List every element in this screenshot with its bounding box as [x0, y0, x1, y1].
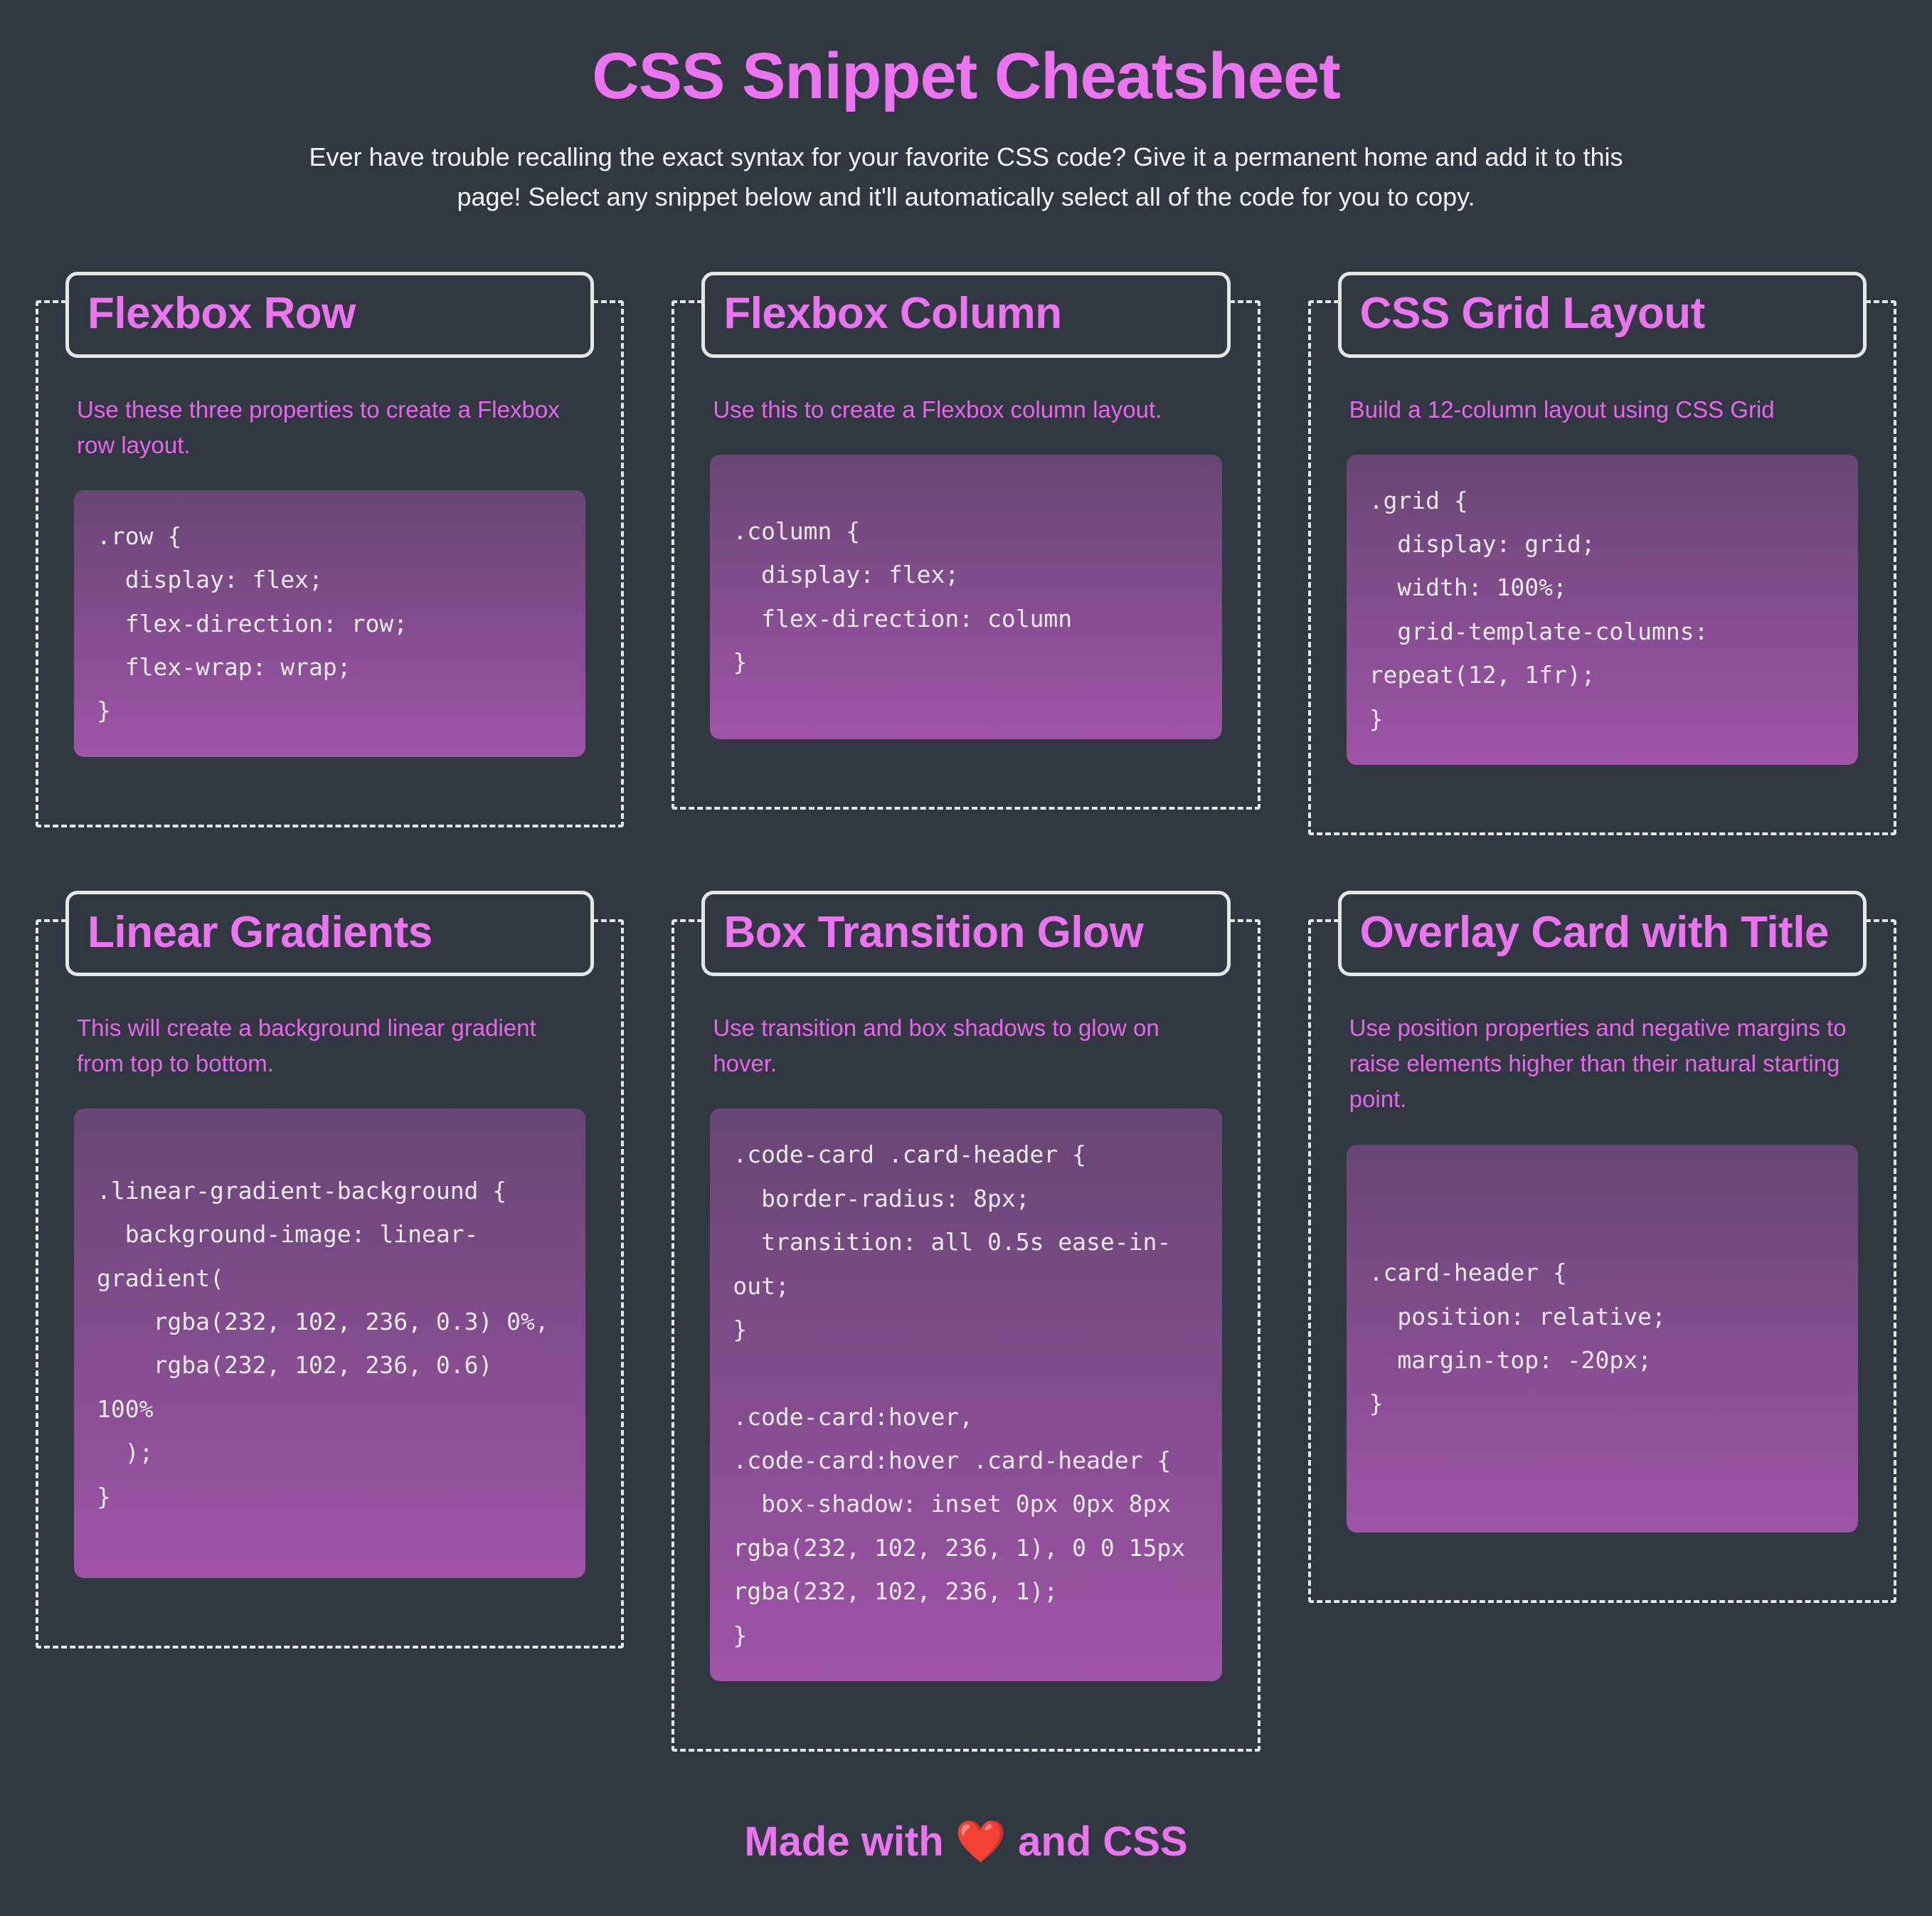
- snippet-card-flexbox-column[interactable]: Flexbox Column Use this to create a Flex…: [672, 300, 1260, 809]
- card-description: Use these three properties to create a F…: [74, 392, 585, 463]
- snippet-card-linear-gradients[interactable]: Linear Gradients This will create a back…: [36, 919, 624, 1648]
- card-title: Flexbox Column: [723, 287, 1208, 339]
- card-description: Use this to create a Flexbox column layo…: [710, 392, 1221, 428]
- card-header: CSS Grid Layout: [1338, 272, 1867, 357]
- snippet-card-overlay-card-with-title[interactable]: Overlay Card with Title Use position pro…: [1308, 919, 1896, 1603]
- card-title: Linear Gradients: [87, 906, 572, 958]
- card-header: Box Transition Glow: [701, 891, 1230, 976]
- footer-suffix: and CSS: [1007, 1819, 1188, 1865]
- card-header: Flexbox Row: [65, 272, 594, 357]
- snippet-card-css-grid-layout[interactable]: CSS Grid Layout Build a 12-column layout…: [1308, 300, 1896, 835]
- card-description: Use position properties and negative mar…: [1347, 1010, 1858, 1117]
- heart-icon: ❤️: [955, 1817, 1007, 1866]
- code-snippet[interactable]: .code-card .card-header { border-radius:…: [710, 1108, 1221, 1681]
- snippet-card-flexbox-row[interactable]: Flexbox Row Use these three properties t…: [36, 300, 624, 827]
- card-title: Flexbox Row: [87, 287, 572, 339]
- snippet-grid-row-2: Linear Gradients This will create a back…: [0, 835, 1932, 1752]
- code-snippet[interactable]: .grid { display: grid; width: 100%; grid…: [1347, 455, 1858, 765]
- card-header: Overlay Card with Title: [1338, 891, 1867, 976]
- snippet-grid-row-1: Flexbox Row Use these three properties t…: [0, 216, 1932, 835]
- code-snippet[interactable]: .linear-gradient-background { background…: [74, 1108, 585, 1578]
- card-header: Flexbox Column: [701, 272, 1230, 357]
- code-snippet[interactable]: .column { display: flex; flex-direction:…: [710, 455, 1221, 739]
- card-header: Linear Gradients: [65, 891, 594, 976]
- card-description: This will create a background linear gra…: [74, 1010, 585, 1081]
- footer-prefix: Made with: [744, 1819, 955, 1865]
- card-title: Overlay Card with Title: [1360, 906, 1845, 958]
- card-description: Use transition and box shadows to glow o…: [710, 1010, 1221, 1081]
- page-subtitle: Ever have trouble recalling the exact sy…: [262, 137, 1670, 217]
- code-snippet[interactable]: .row { display: flex; flex-direction: ro…: [74, 490, 585, 757]
- card-description: Build a 12-column layout using CSS Grid: [1347, 392, 1858, 428]
- code-snippet[interactable]: .card-header { position: relative; margi…: [1347, 1145, 1858, 1533]
- card-title: CSS Grid Layout: [1360, 287, 1845, 339]
- page-title: CSS Snippet Cheatsheet: [0, 0, 1932, 115]
- card-title: Box Transition Glow: [723, 906, 1208, 958]
- snippet-card-box-transition-glow[interactable]: Box Transition Glow Use transition and b…: [672, 919, 1260, 1752]
- page-root: CSS Snippet Cheatsheet Ever have trouble…: [0, 0, 1932, 1916]
- footer: Made with ❤️ and CSS: [0, 1752, 1932, 1888]
